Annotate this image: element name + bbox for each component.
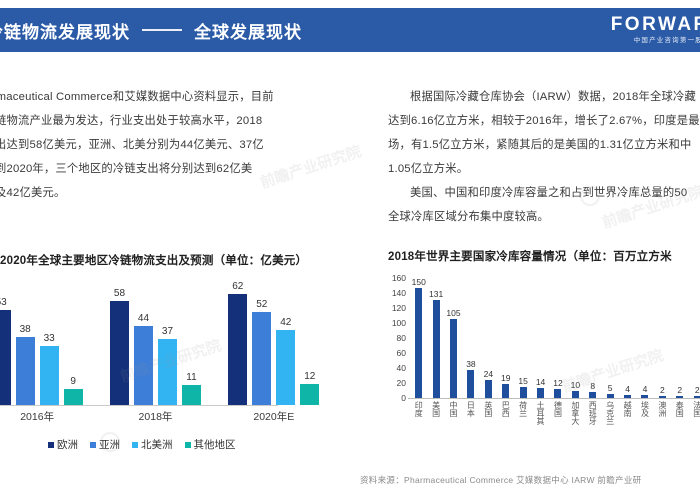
bar (485, 380, 492, 398)
bar-value-label: 52 (256, 300, 267, 310)
y-axis-tick-label: 20 (397, 379, 406, 388)
bar (64, 389, 83, 405)
x-axis-line (408, 398, 700, 399)
bar (252, 312, 271, 405)
bar-value-label: 2 (677, 386, 682, 395)
bar (276, 330, 295, 405)
paragraph: 根据国际冷藏仓库协会（IARW）数据，2018年全球冷藏 (388, 86, 700, 108)
x-axis-label: 2018年 (105, 409, 205, 424)
bar-value-label: 12 (553, 379, 562, 388)
bar (182, 385, 201, 405)
bar-value-label: 8 (590, 382, 595, 391)
bar-value-label: 4 (643, 385, 648, 394)
chart-country-cold-storage-capacity: 2018年世界主要国家冷库容量情况（单位：百万立方米 1601401201008… (388, 248, 700, 488)
bar-value-label: 10 (571, 381, 580, 390)
paragraph: 的冷链物流产业最为发达，行业支出处于较高水平，2018 (0, 110, 332, 132)
legend-swatch (185, 442, 191, 448)
page-title: 冷链物流发展现状 (0, 18, 130, 43)
x-axis-label: 越南 (619, 401, 636, 457)
bar-item: 33 (40, 280, 59, 405)
bar (40, 346, 59, 405)
x-axis-label: 埃及 (636, 401, 653, 457)
bar (450, 319, 457, 398)
page-subtitle: 全球发展现状 (194, 18, 302, 43)
x-axis-label: 美国 (427, 401, 444, 457)
bar (16, 337, 35, 405)
bar-item: 38 (16, 280, 35, 405)
bar (415, 288, 422, 398)
bar-item: 44 (134, 280, 153, 405)
chart-plot-area: 150131105382419151412108544222 (410, 278, 700, 398)
bar-item: 15 (514, 278, 531, 398)
legend-item[interactable]: 亚洲 (90, 437, 120, 452)
bar-item: 42 (276, 280, 295, 405)
y-axis-tick-label: 160 (392, 274, 406, 283)
x-axis-label: 澳洲 (654, 401, 671, 457)
y-axis-tick-label: 80 (397, 334, 406, 343)
header-title-group: 冷链物流发展现状 全球发展现状 (0, 18, 302, 43)
y-axis-tick-label: 100 (392, 319, 406, 328)
bar-value-label: 131 (429, 290, 443, 299)
legend-label: 亚洲 (99, 437, 120, 452)
bar-item: 62 (228, 280, 247, 405)
paragraph: 美元及42亿美元。 (0, 182, 332, 204)
bar-value-label: 44 (138, 314, 149, 324)
x-axis-label: 加拿大 (567, 401, 584, 457)
page-header: 冷链物流发展现状 全球发展现状 FORWARD 中国产业咨询第一股 (0, 8, 700, 52)
bar-value-label: 2 (695, 386, 700, 395)
bar-value-label: 4 (625, 385, 630, 394)
bar-value-label: 58 (114, 289, 125, 299)
bar-value-label: 12 (304, 372, 315, 382)
title-divider (142, 29, 182, 31)
bar (134, 326, 153, 405)
bar-item: 19 (497, 278, 514, 398)
x-axis-label: 英国 (480, 401, 497, 457)
bar (502, 384, 509, 398)
paragraph: 场，有1.5亿立方米，紧随其后的是美国的1.31亿立方米和中 (388, 134, 700, 156)
bar-item: 2 (671, 278, 688, 398)
y-axis-tick-label: 0 (401, 394, 406, 403)
y-axis-tick-label: 120 (392, 304, 406, 313)
source-note: 资料来源：Pharmaceutical Commerce 艾媒数据中心 IARW… (360, 474, 641, 486)
bar-item: 37 (158, 280, 177, 405)
bar-value-label: 14 (536, 378, 545, 387)
bar (554, 389, 561, 398)
x-axis-labels: 印度美国中国日本英国巴西荷兰土耳其德国加拿大西班牙乌克兰越南埃及澳洲泰国法国 (410, 401, 700, 457)
x-axis-label: 荷兰 (514, 401, 531, 457)
bar-item: 53 (0, 280, 11, 405)
legend-swatch (90, 442, 96, 448)
bar-value-label: 5 (608, 384, 613, 393)
bar (537, 388, 544, 399)
bar-value-label: 15 (518, 377, 527, 386)
bar (520, 387, 527, 398)
bar-item: 52 (252, 280, 271, 405)
bar-value-label: 38 (466, 360, 475, 369)
legend-label: 欧洲 (57, 437, 78, 452)
bar-value-label: 150 (412, 278, 426, 287)
bar-value-label: 9 (70, 377, 76, 387)
paragraph: 1.05亿立方米。 (388, 158, 700, 180)
brand-logo-tagline: 中国产业咨询第一股 (611, 38, 700, 45)
paragraph: 全球冷库区域分布集中度较高。 (388, 206, 700, 228)
chart-legend: 欧洲亚洲北美洲其他地区 (48, 437, 236, 452)
bar (572, 391, 579, 399)
bar-value-label: 42 (280, 318, 291, 328)
x-axis-label: 2020年E (224, 409, 324, 424)
bar-item: 150 (410, 278, 427, 398)
bar-value-label: 19 (501, 374, 510, 383)
bar (300, 384, 319, 405)
bar-value-label: 53 (0, 298, 7, 308)
legend-item[interactable]: 其他地区 (185, 437, 236, 452)
bar-value-label: 2 (660, 386, 665, 395)
y-axis-labels: 160140120100806040200 (388, 278, 408, 398)
bar (467, 370, 474, 399)
bar-item: 4 (619, 278, 636, 398)
bar (158, 339, 177, 405)
legend-swatch (132, 442, 138, 448)
x-axis-label: 日本 (462, 401, 479, 457)
paragraph: 链支出达到58亿美元，亚洲、北美分别为44亿美元、37亿 (0, 134, 332, 156)
bar (433, 300, 440, 398)
legend-item[interactable]: 北美洲 (132, 437, 173, 452)
bar-container: 150131105382419151412108544222 (410, 278, 700, 398)
left-text-column: Pharmaceutical Commerce和艾媒数据中心资料显示，目前 的冷… (0, 86, 332, 206)
bar-group-container: 53383395844371162524212 (0, 280, 333, 405)
x-axis-label: 法国 (689, 401, 700, 457)
legend-item[interactable]: 欧洲 (48, 437, 78, 452)
chart-regional-cold-chain-spending: 2020年全球主要地区冷链物流支出及预测（单位：亿美元） 53383395844… (0, 252, 340, 472)
bar-item: 12 (549, 278, 566, 398)
x-axis-line (0, 405, 278, 406)
bar-value-label: 24 (484, 370, 493, 379)
bar (228, 294, 247, 405)
bar-item: 12 (300, 280, 319, 405)
bar-group: 5338339 (0, 280, 83, 405)
bar-item: 2 (689, 278, 700, 398)
legend-label: 北美洲 (141, 437, 173, 452)
legend-label: 其他地区 (194, 437, 236, 452)
x-axis-label: 泰国 (671, 401, 688, 457)
bar (0, 310, 11, 405)
bar-item: 38 (462, 278, 479, 398)
bar-item: 14 (532, 278, 549, 398)
bar-value-label: 38 (20, 325, 31, 335)
right-text-column: 根据国际冷藏仓库协会（IARW）数据，2018年全球冷藏 达到6.16亿立方米，… (388, 86, 700, 230)
paragraph: Pharmaceutical Commerce和艾媒数据中心资料显示，目前 (0, 86, 332, 108)
chart-title: 2020年全球主要地区冷链物流支出及预测（单位：亿美元） (0, 252, 340, 268)
x-axis-label: 巴西 (497, 401, 514, 457)
bar-value-label: 62 (232, 282, 243, 292)
bar-item: 4 (636, 278, 653, 398)
bar (110, 301, 129, 405)
paragraph: 美国、中国和印度冷库容量之和占到世界冷库总量的50 (388, 182, 700, 204)
x-axis-label: 中国 (445, 401, 462, 457)
x-axis-label: 西班牙 (584, 401, 601, 457)
bar-item: 2 (654, 278, 671, 398)
paragraph: 达到6.16亿立方米，相较于2016年，增长了2.67%，印度是最 (388, 110, 700, 132)
x-axis-label: 土耳其 (532, 401, 549, 457)
brand-logo-wordmark: FORWARD (611, 15, 700, 34)
bar-item: 105 (445, 278, 462, 398)
x-axis-labels: 2016年2018年2020年E (0, 409, 333, 424)
bar-item: 131 (427, 278, 444, 398)
x-axis-label: 乌克兰 (601, 401, 618, 457)
bar-group: 58443711 (110, 280, 201, 405)
bar-item: 10 (567, 278, 584, 398)
bar-group: 62524212 (228, 280, 319, 405)
bar-value-label: 33 (44, 334, 55, 344)
legend-swatch (48, 442, 54, 448)
y-axis-tick-label: 60 (397, 349, 406, 358)
bar-item: 8 (584, 278, 601, 398)
chart-plot-area: 53383395844371162524212 (0, 280, 333, 405)
x-axis-label: 德国 (549, 401, 566, 457)
x-axis-label: 印度 (410, 401, 427, 457)
bar-value-label: 105 (446, 309, 460, 318)
paragraph: 预计到2020年，三个地区的冷链支出将分别达到62亿美 (0, 158, 332, 180)
bar-item: 24 (480, 278, 497, 398)
bar-item: 11 (182, 280, 201, 405)
bar-item: 58 (110, 280, 129, 405)
brand-logo: FORWARD 中国产业咨询第一股 (611, 15, 700, 45)
bar-item: 9 (64, 280, 83, 405)
y-axis-tick-label: 40 (397, 364, 406, 373)
x-axis-label: 2016年 (0, 409, 87, 424)
bar-value-label: 37 (162, 327, 173, 337)
bar-value-label: 11 (186, 373, 196, 383)
chart-title: 2018年世界主要国家冷库容量情况（单位：百万立方米 (388, 248, 700, 264)
y-axis-tick-label: 140 (392, 289, 406, 298)
bar-item: 5 (601, 278, 618, 398)
